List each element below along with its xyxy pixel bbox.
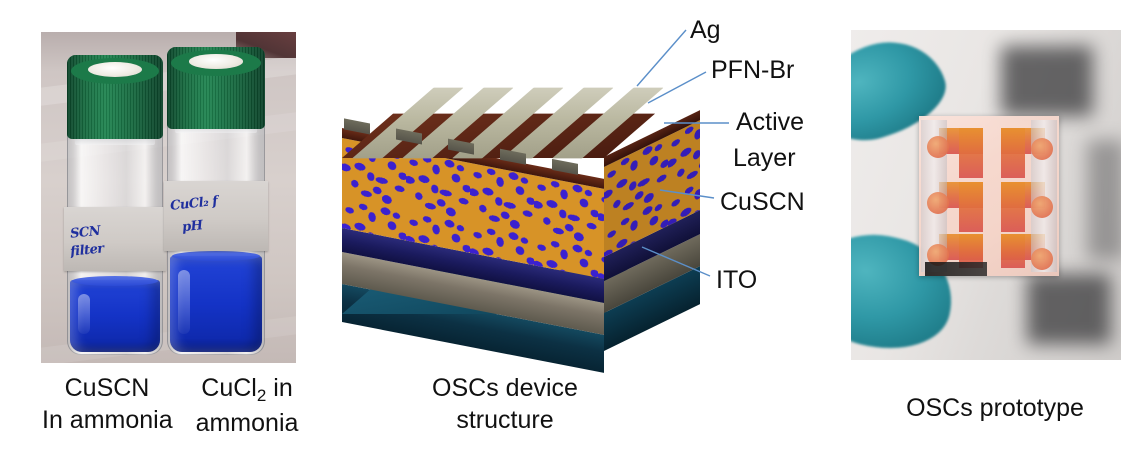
- vial-cap: [167, 47, 265, 129]
- electrode-pad: [1001, 182, 1025, 232]
- vial-cap-septum: [88, 62, 142, 77]
- vial-cap-septum: [189, 54, 244, 69]
- caption-cucl2-formula: CuCl: [201, 374, 257, 402]
- electrode-pad: [1001, 234, 1025, 268]
- caption-cuscn: CuSCN In ammonia: [42, 372, 172, 436]
- caption-cucl2-line-2: ammonia: [176, 407, 318, 439]
- vial-label-tape: SCN filter: [64, 207, 166, 271]
- contact-opening: [927, 192, 949, 214]
- caption-cucl2: CuCl2 in ammonia: [176, 372, 318, 439]
- liquid-highlight: [78, 294, 90, 334]
- caption-device: OSCs device structure: [420, 372, 590, 436]
- contact-opening: [927, 136, 949, 158]
- caption-cucl2-subscript: 2: [257, 386, 266, 405]
- vial-cuscn: SCN filter: [67, 55, 163, 355]
- contact-opening: [1031, 196, 1053, 218]
- label-active-layer-line-1: Active: [736, 106, 804, 138]
- electrode-pad: [1001, 128, 1025, 178]
- figure-canvas: SCN filter CuCl₂ f pH: [0, 0, 1141, 461]
- contact-opening: [1031, 248, 1053, 270]
- caption-cuscn-line-2: In ammonia: [42, 404, 172, 436]
- vial-liquid: [170, 256, 262, 352]
- label-active-layer-line-2: Layer: [733, 142, 796, 174]
- prototype-substrate: [919, 116, 1059, 276]
- vial-liquid: [70, 280, 160, 352]
- caption-device-line-2: structure: [420, 404, 590, 436]
- vial-label-tape: CuCl₂ f pH: [164, 181, 268, 251]
- background-blur-block: [1027, 274, 1111, 344]
- contact-opening: [1031, 138, 1053, 160]
- vials-photograph: SCN filter CuCl₂ f pH: [41, 32, 296, 363]
- caption-cucl2-line-1: CuCl2 in: [176, 372, 318, 407]
- label-ito: ITO: [716, 264, 757, 296]
- caption-device-line-1: OSCs device: [420, 372, 590, 404]
- label-ag: Ag: [690, 14, 721, 46]
- electrode-pad: [959, 182, 983, 232]
- background-blur-block: [1001, 46, 1093, 116]
- caption-cucl2-suffix: in: [266, 374, 292, 402]
- electrode-pad: [959, 128, 983, 178]
- label-cuscn: CuSCN: [720, 186, 805, 218]
- liquid-meniscus: [172, 251, 260, 261]
- caption-prototype: OSCs prototype: [880, 392, 1110, 424]
- vial-cap: [67, 55, 163, 139]
- vial-handwriting-line-1: CuCl₂ f: [170, 190, 265, 213]
- prototype-photograph: [851, 30, 1121, 360]
- substrate-edge-shadow: [925, 262, 987, 276]
- vial-cucl2: CuCl₂ f pH: [167, 47, 265, 355]
- liquid-highlight: [178, 270, 190, 334]
- liquid-meniscus: [72, 276, 158, 286]
- vial-handwriting-line-2: pH: [182, 213, 265, 235]
- caption-cuscn-line-1: CuSCN: [42, 372, 172, 404]
- device-structure-schematic: [338, 62, 688, 352]
- background-blur-block: [1087, 140, 1121, 260]
- label-pfn-br: PFN-Br: [711, 54, 794, 86]
